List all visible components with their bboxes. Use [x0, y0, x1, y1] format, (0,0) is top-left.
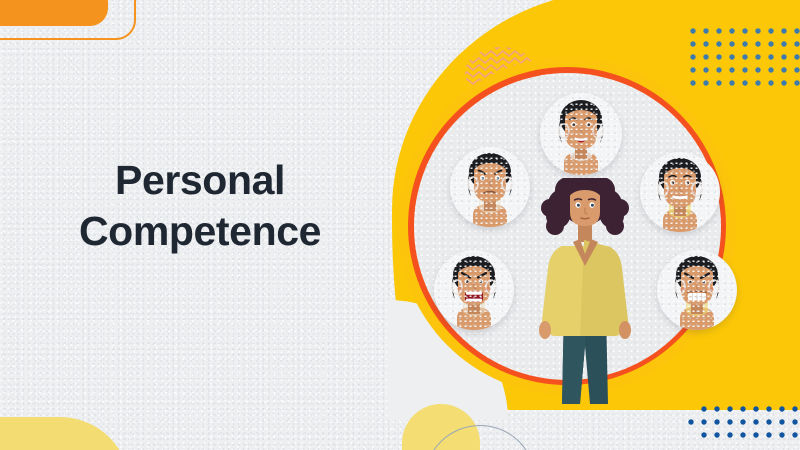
central-woman-figure — [520, 178, 650, 408]
title-line-2: Competence — [0, 206, 400, 257]
bottom-left-pale-yellow-blob — [0, 417, 130, 450]
title-line-1: Personal — [0, 155, 400, 206]
face-angry-shouting — [434, 250, 514, 330]
face-angry-gritted — [657, 250, 737, 330]
bottom-right-dot-grid — [686, 404, 800, 450]
face-smiling — [640, 152, 720, 232]
top-left-solid-rounded-rect — [0, 0, 108, 26]
face-worried-sad — [450, 147, 530, 227]
face-happy-laughing — [540, 93, 622, 175]
page-title: Personal Competence — [0, 155, 400, 258]
slide-canvas: Personal Competence — [0, 0, 800, 450]
